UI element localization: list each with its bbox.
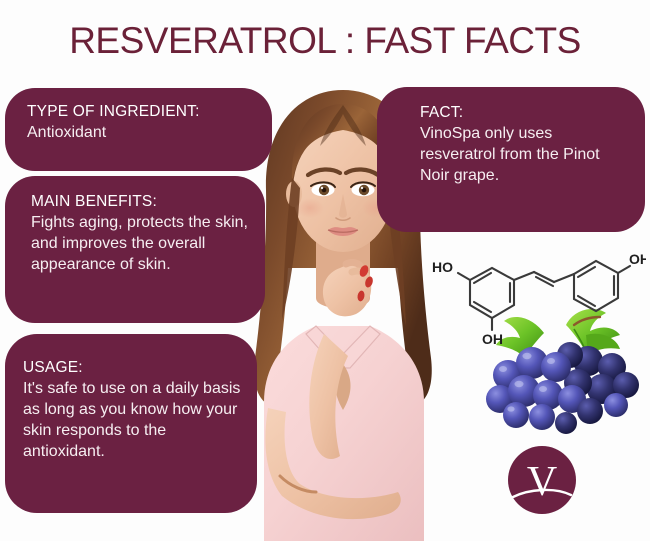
panel-type-of-ingredient: TYPE OF INGREDIENT: Antioxidant <box>5 88 272 171</box>
page-title: RESVERATROL : FAST FACTS <box>0 20 650 62</box>
panel-usage: USAGE: It's safe to use on a daily basis… <box>5 334 257 513</box>
panel-body: Antioxidant <box>27 123 254 144</box>
panel-fact: FACT: VinoSpa only uses resveratrol from… <box>377 87 645 232</box>
panel-body: VinoSpa only uses resveratrol from the P… <box>420 124 631 187</box>
resveratrol-structure-icon: HO OH OH <box>430 228 646 346</box>
chem-label-ho: HO <box>432 259 453 275</box>
logo-letter: V <box>527 459 557 505</box>
panel-heading: MAIN BENEFITS: <box>31 192 251 212</box>
chem-label-oh-lower: OH <box>482 331 503 346</box>
panel-heading: FACT: <box>420 103 631 123</box>
panel-body: Fights aging, protects the skin, and imp… <box>31 213 251 276</box>
panel-heading: TYPE OF INGREDIENT: <box>27 102 254 122</box>
vinospa-logo: V <box>507 445 577 515</box>
panel-heading: USAGE: <box>23 358 245 378</box>
panel-body: It's safe to use on a daily basis as lon… <box>23 379 245 463</box>
infographic-root: RESVERATROL : FAST FACTS <box>0 0 650 541</box>
panel-main-benefits: MAIN BENEFITS: Fights aging, protects th… <box>5 176 265 323</box>
chem-label-oh-right: OH <box>629 251 646 267</box>
